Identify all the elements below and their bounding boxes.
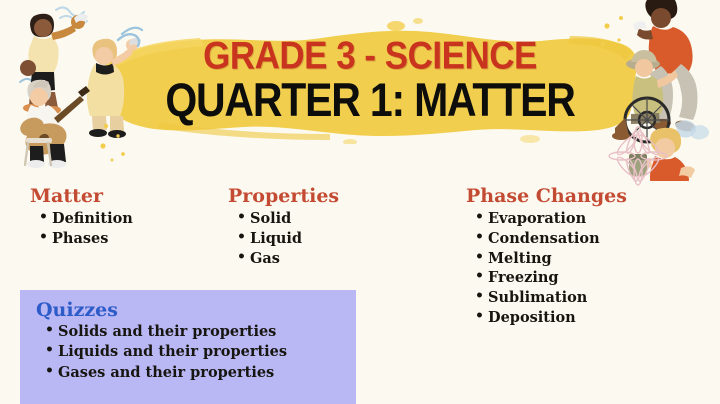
list-item: Definition xyxy=(52,209,220,229)
list-matter: Definition Phases xyxy=(30,209,220,249)
title-line-2: QUARTER 1: MATTER xyxy=(100,77,640,124)
column-heading-matter: Matter xyxy=(30,186,220,207)
list-item: Gas xyxy=(250,249,448,269)
title-line-1: GRADE 3 - SCIENCE xyxy=(100,36,640,75)
list-item: Melting xyxy=(488,249,706,269)
list-item: Condensation xyxy=(488,229,706,249)
list-item: Deposition xyxy=(488,308,706,328)
list-properties: Solid Liquid Gas xyxy=(228,209,448,269)
column-properties: Properties Solid Liquid Gas xyxy=(228,186,448,268)
list-item: Phases xyxy=(52,229,220,249)
list-item: Freezing xyxy=(488,268,706,288)
quizzes-box: Quizzes Solids and their properties Liqu… xyxy=(20,290,356,404)
list-item: Evaporation xyxy=(488,209,706,229)
column-phase-changes: Phase Changes Evaporation Condensation M… xyxy=(466,186,706,328)
column-matter: Matter Definition Phases xyxy=(30,186,220,249)
list-item: Liquids and their properties xyxy=(58,342,356,363)
column-heading-properties: Properties xyxy=(228,186,448,207)
title-banner: GRADE 3 - SCIENCE QUARTER 1: MATTER xyxy=(100,18,640,144)
title-text-group: GRADE 3 - SCIENCE QUARTER 1: MATTER xyxy=(100,36,640,118)
list-item: Sublimation xyxy=(488,288,706,308)
list-item: Solid xyxy=(250,209,448,229)
quizzes-heading: Quizzes xyxy=(36,300,356,321)
list-item: Solids and their properties xyxy=(58,322,356,343)
slide-canvas: GRADE 3 - SCIENCE QUARTER 1: MATTER Matt… xyxy=(0,0,720,404)
column-heading-phase-changes: Phase Changes xyxy=(466,186,706,207)
list-quizzes: Solids and their properties Liquids and … xyxy=(20,322,356,384)
list-item: Gases and their properties xyxy=(58,363,356,384)
list-phase-changes: Evaporation Condensation Melting Freezin… xyxy=(466,209,706,328)
list-item: Liquid xyxy=(250,229,448,249)
